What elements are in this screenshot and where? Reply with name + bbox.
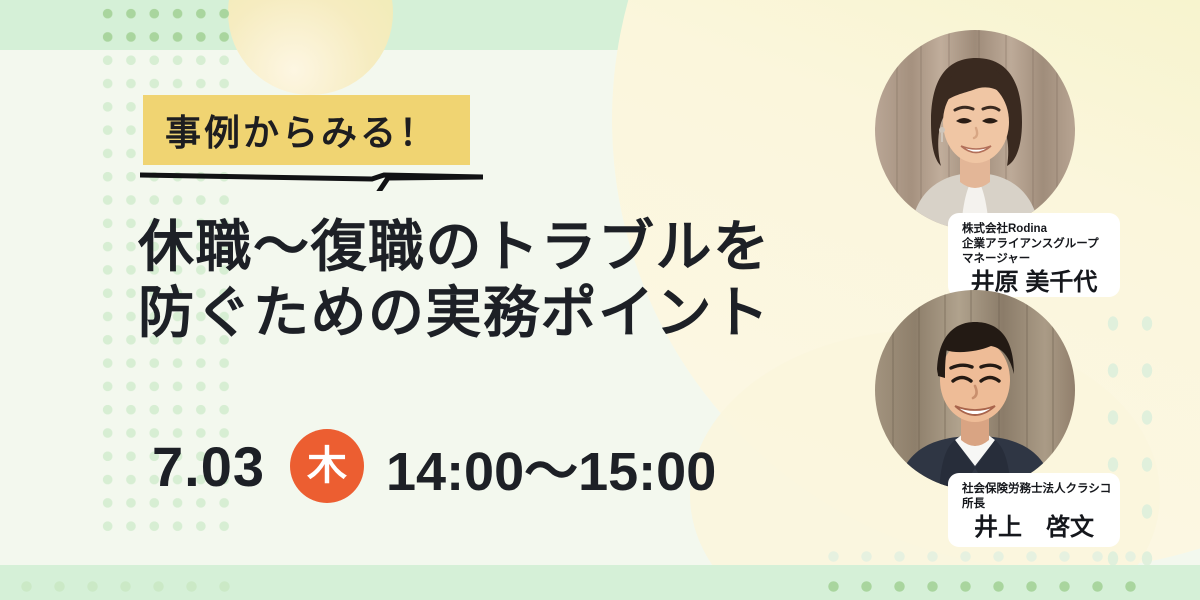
portrait-illustration-icon xyxy=(875,290,1075,490)
dot-grid-left-on-band xyxy=(96,2,236,50)
headline-line-2: 防ぐための実務ポイント xyxy=(138,280,858,346)
org-line: 社会保険労務士法人クラシコ xyxy=(962,482,1106,497)
eyebrow-label: 事例からみる！ xyxy=(143,104,438,156)
org-line: マネージャー xyxy=(962,252,1106,267)
event-time: 14:00〜15:00 xyxy=(386,427,716,506)
org-line: 所長 xyxy=(962,497,1106,512)
webinar-banner: 事例からみる！ 休職〜復職のトラブルを 防ぐための実務ポイント 7.03 木 1… xyxy=(0,0,1200,600)
org-line: 株式会社Rodina xyxy=(962,222,1106,237)
day-of-week-badge: 木 xyxy=(290,429,364,503)
dot-row-bottom-on-band xyxy=(817,570,1147,596)
namecard-inoue: 社会保険労務士法人クラシコ 所長 井上 啓文 xyxy=(948,473,1120,547)
org-line: 企業アライアンスグループ xyxy=(962,237,1106,252)
speaker-photo-inoue xyxy=(875,290,1075,490)
event-date: 7.03 xyxy=(152,434,265,499)
eyebrow-tag: 事例からみる！ xyxy=(143,95,470,165)
schedule-row: 7.03 木 14:00〜15:00 xyxy=(152,428,716,504)
headline-line-1: 休職〜復職のトラブルを xyxy=(138,214,858,280)
page-title: 休職〜復職のトラブルを 防ぐための実務ポイント xyxy=(138,214,858,346)
portrait-illustration-icon xyxy=(875,30,1075,230)
day-of-week-label: 木 xyxy=(307,446,347,486)
speaker-photo-ihara xyxy=(875,30,1075,230)
namecard-ihara: 株式会社Rodina 企業アライアンスグループ マネージャー 井原 美千代 xyxy=(948,213,1120,297)
top-yellow-circle xyxy=(228,0,393,95)
dot-row-bottom-left xyxy=(10,570,240,596)
eyebrow-underline-icon xyxy=(140,171,483,191)
speaker-name: 井上 啓文 xyxy=(962,514,1106,542)
